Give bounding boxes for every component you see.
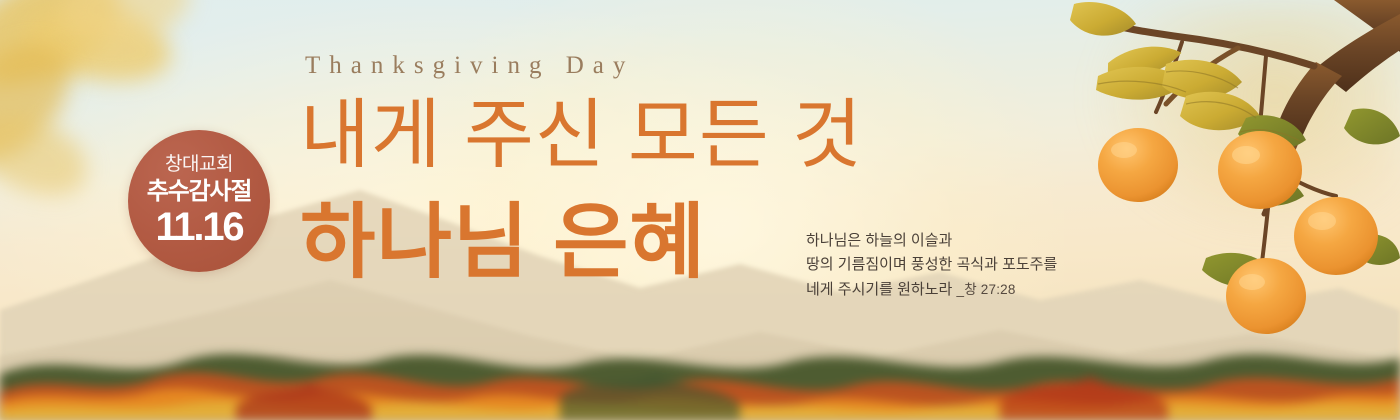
verse-line-1: 하나님은 하늘의 이슬과: [806, 229, 1057, 253]
verse-line-3-row: 네게 주시기를 원하노라 _창 27:28: [806, 278, 1057, 302]
branch-backlight-haze: [1070, 0, 1400, 300]
thanksgiving-banner: 창대교회 추수감사절 11.16 Thanksgiving Day 내게 주신 …: [0, 0, 1400, 420]
blurred-leaf-icon: [55, 0, 195, 51]
headline-line-2: 하나님 은혜: [300, 202, 706, 284]
badge-occasion: 추수감사절: [147, 180, 251, 204]
autumn-foliage-band: [0, 310, 1400, 420]
event-badge: 창대교회 추수감사절 11.16: [128, 130, 270, 272]
blurred-leaf-icon: [16, 0, 178, 95]
blurred-leaf-icon: [0, 0, 136, 104]
verse-line-2: 땅의 기름짐이며 풍성한 곡식과 포도주를: [806, 253, 1057, 277]
eyebrow-title: Thanksgiving Day: [305, 52, 634, 80]
verse-reference: _창 27:28: [957, 282, 1016, 297]
headline-line-1: 내게 주신 모든 것: [300, 98, 863, 174]
scripture-verse: 하나님은 하늘의 이슬과 땅의 기름짐이며 풍성한 곡식과 포도주를 네게 주시…: [806, 229, 1057, 302]
persimmon-branch-illustration: [1070, 0, 1400, 345]
verse-line-3: 네게 주시기를 원하노라: [806, 281, 952, 298]
blurred-leaf-icon: [0, 97, 99, 213]
badge-date: 11.16: [156, 207, 243, 247]
blurred-leaf-icon: [0, 23, 92, 180]
badge-church-name: 창대교회: [165, 155, 233, 174]
